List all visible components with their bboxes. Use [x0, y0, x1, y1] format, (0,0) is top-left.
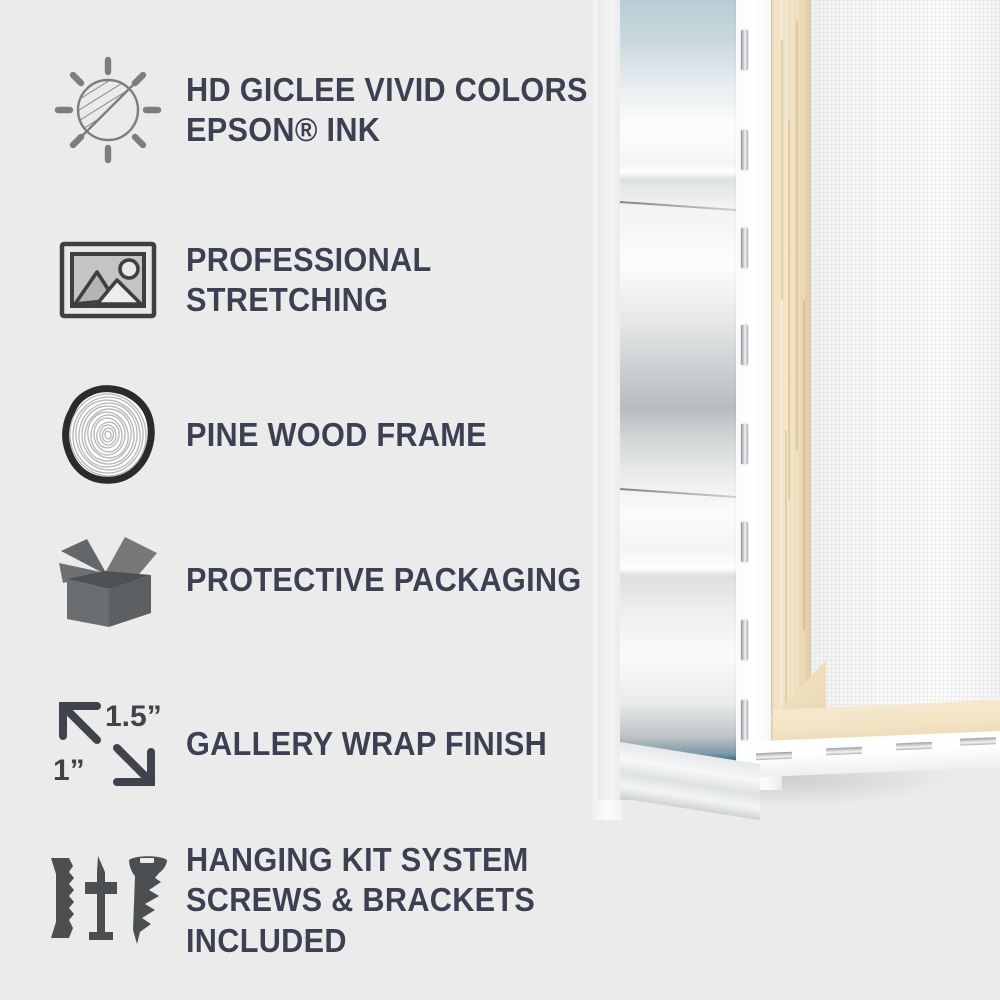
staple: [826, 747, 862, 756]
feature-item-gallery-wrap-finish: 1.5” 1” GALLERY WRAP FINISH: [44, 686, 620, 802]
staple: [896, 742, 932, 751]
canvas-corner-photo: [598, 0, 1000, 820]
feature-label-gallery-wrap-finish: GALLERY WRAP FINISH: [186, 724, 547, 764]
pine-stretcher-bar-vertical: [771, 0, 813, 770]
staple: [756, 752, 792, 761]
corner-arrows-dimension-icon: 1.5” 1”: [44, 686, 172, 802]
staple: [741, 325, 748, 365]
framed-picture-icon: [44, 222, 172, 338]
open-box-icon: [44, 522, 172, 638]
staple: [741, 30, 748, 70]
feature-label-pine-wood-frame: PINE WOOD FRAME: [186, 415, 487, 455]
feature-label-protective-packaging: PROTECTIVE PACKAGING: [186, 560, 581, 600]
dimension-label-depth: 1.5”: [105, 700, 162, 733]
feature-item-professional-stretching: PROFESSIONAL STRETCHING: [44, 222, 620, 338]
photo-left-fade: [598, 0, 622, 800]
canvas-backing-texture: [811, 0, 1000, 768]
feature-label-professional-stretching: PROFESSIONAL STRETCHING: [186, 240, 590, 321]
product-feature-infographic: HD GICLEE VIVID COLORS EPSON® INK PROFES…: [0, 0, 1000, 1000]
feature-list: HD GICLEE VIVID COLORS EPSON® INK PROFES…: [0, 0, 620, 1000]
wood-grain-line: [803, 300, 805, 630]
wood-grain-line: [785, 430, 787, 720]
staple: [960, 737, 996, 746]
staple: [741, 700, 748, 740]
staple: [741, 522, 748, 562]
sun-hatched-icon: [44, 52, 172, 168]
wood-grain-line: [796, 20, 798, 450]
feature-label-hanging-kit: HANGING KIT SYSTEM SCREWS & BRACKETS INC…: [186, 840, 590, 961]
staple: [741, 228, 748, 268]
feature-item-hd-giclee: HD GICLEE VIVID COLORS EPSON® INK: [44, 52, 620, 168]
feature-item-protective-packaging: PROTECTIVE PACKAGING: [44, 522, 620, 638]
staple: [741, 424, 748, 464]
feature-item-pine-wood-frame: PINE WOOD FRAME: [44, 377, 620, 493]
feature-label-hd-giclee: HD GICLEE VIVID COLORS EPSON® INK: [186, 70, 588, 151]
dimension-label-width: 1”: [53, 754, 85, 787]
feature-item-hanging-kit: HANGING KIT SYSTEM SCREWS & BRACKETS INC…: [44, 840, 620, 961]
hanging-hardware-icon: [44, 842, 172, 958]
staple: [741, 620, 748, 660]
staple: [741, 130, 748, 170]
wood-rings-icon: [44, 377, 172, 493]
wood-grain-line: [788, 120, 790, 500]
wood-grain-line: [781, 40, 783, 300]
printed-canvas-side-edge: [620, 0, 736, 800]
